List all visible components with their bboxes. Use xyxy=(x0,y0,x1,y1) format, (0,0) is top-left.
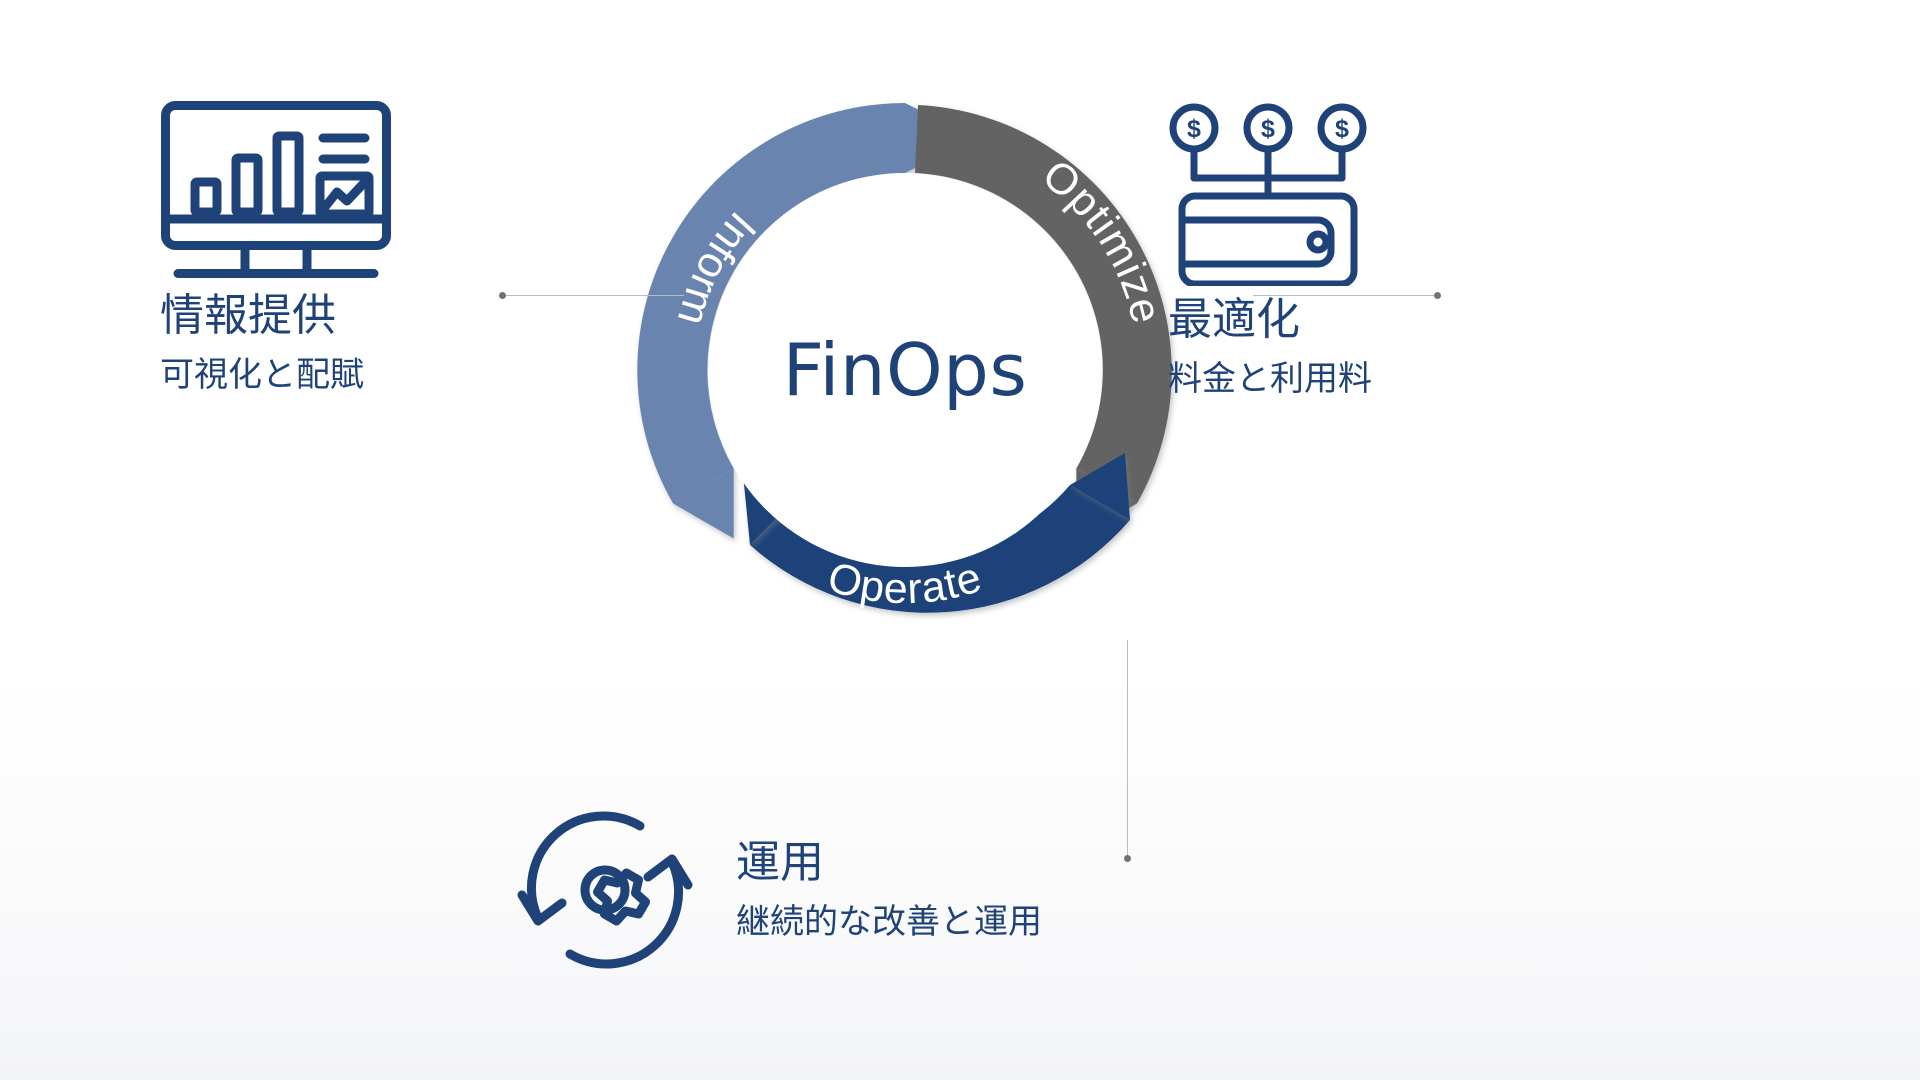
node-inform-subtitle: 可視化と配賦 xyxy=(160,353,392,397)
connector-dot-operate xyxy=(1124,855,1131,862)
finops-cycle-ring: Inform Optimize Operate FinOps xyxy=(600,65,1210,675)
svg-text:$: $ xyxy=(1335,115,1349,143)
node-operate-title: 運用 xyxy=(736,835,1042,890)
gear-refresh-icon xyxy=(500,790,710,990)
node-optimize-title: 最適化 xyxy=(1168,292,1372,347)
node-inform-title: 情報提供 xyxy=(160,288,392,343)
svg-text:$: $ xyxy=(1261,115,1275,143)
connector-dot-optimize xyxy=(1434,292,1441,299)
node-optimize[interactable]: $ $ $ 最適化 料金と利用料 xyxy=(1168,100,1372,401)
node-inform[interactable]: 情報提供 可視化と配賦 xyxy=(160,100,392,397)
dashboard-monitor-icon xyxy=(160,100,392,282)
connector-dot-inform xyxy=(499,292,506,299)
node-operate[interactable]: 運用 継続的な改善と運用 xyxy=(500,790,1100,990)
node-optimize-subtitle: 料金と利用料 xyxy=(1168,357,1372,401)
svg-text:$: $ xyxy=(1187,115,1201,143)
node-operate-subtitle: 継続的な改善と運用 xyxy=(736,900,1042,944)
connector-line-operate xyxy=(1127,640,1128,858)
ring-inner-disc xyxy=(708,173,1102,567)
connector-line-inform xyxy=(502,295,684,296)
finops-lifecycle-diagram: Inform Optimize Operate FinOps xyxy=(0,0,1920,1080)
wallet-money-icon: $ $ $ xyxy=(1168,100,1368,286)
